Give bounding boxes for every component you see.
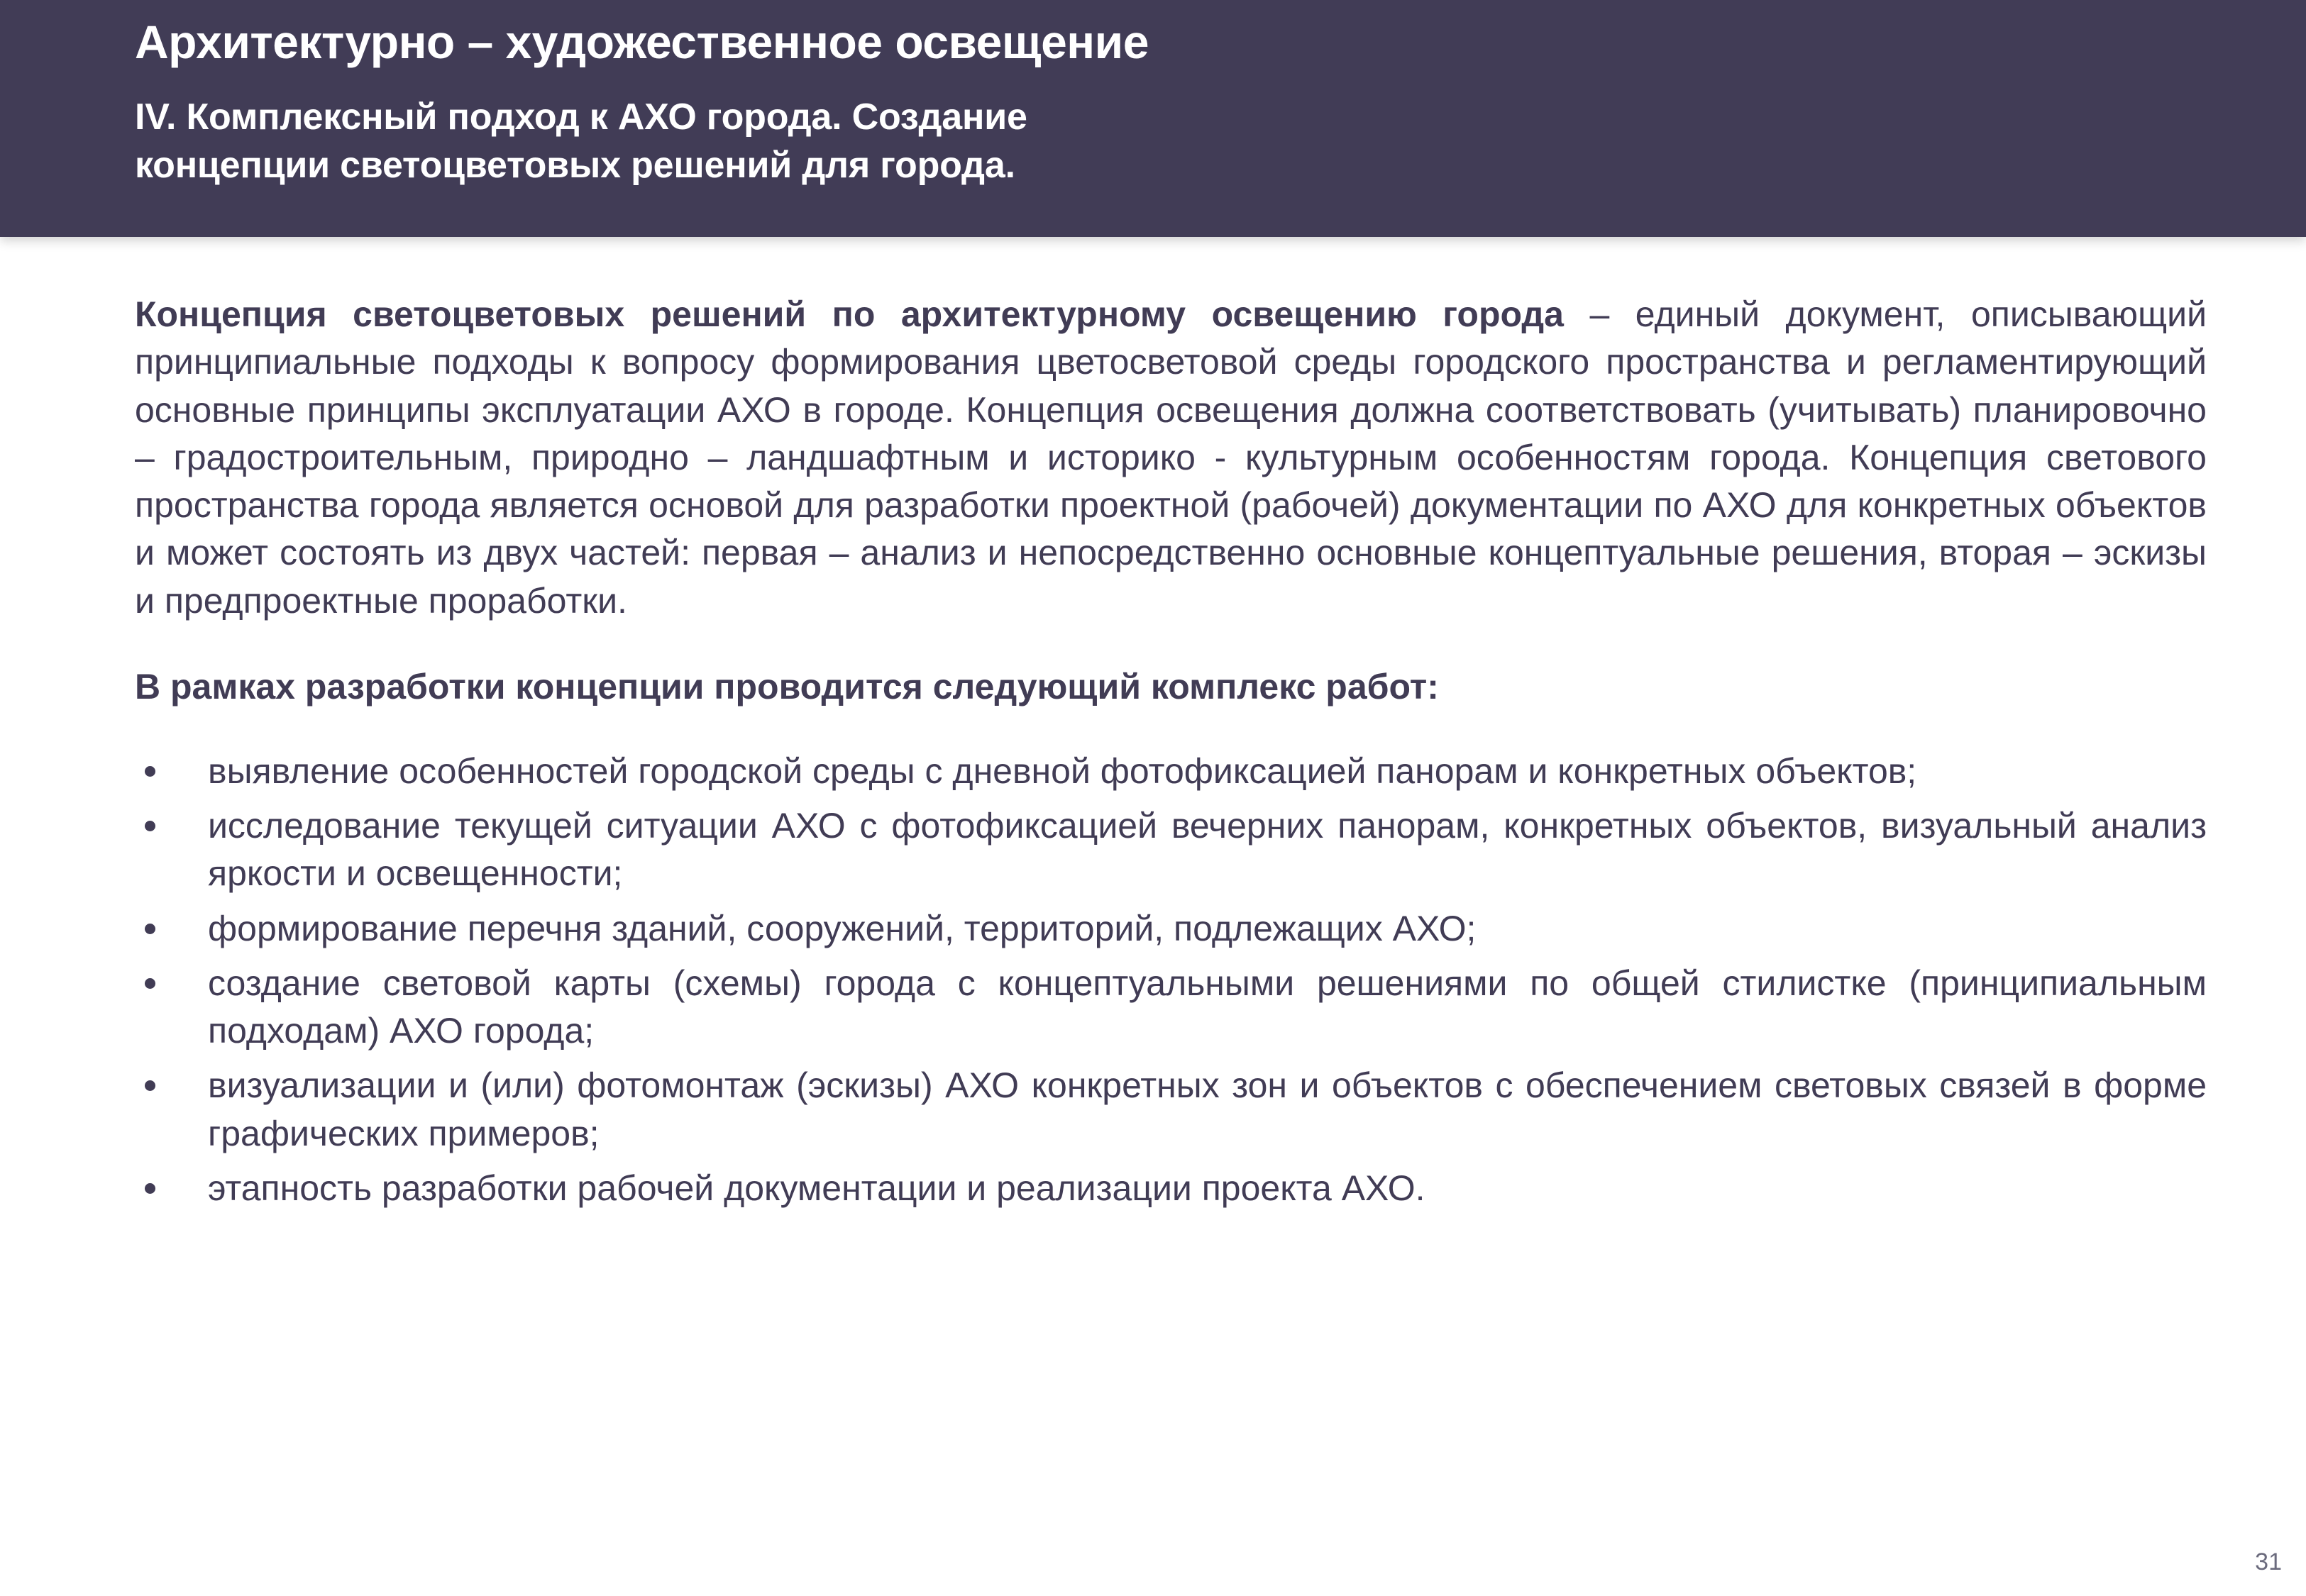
list-item: выявление особенностей городской среды с… — [135, 748, 2207, 795]
list-item: визуализации и (или) фотомонтаж (эскизы)… — [135, 1062, 2207, 1158]
page-title: Архитектурно – художественное освещение — [135, 16, 1149, 70]
works-bullet-list: выявление особенностей городской среды с… — [135, 748, 2207, 1212]
page-number: 31 — [2255, 1548, 2282, 1576]
list-item: исследование текущей ситуации АХО с фото… — [135, 802, 2207, 898]
page-subtitle-line-1: IV. Комплексный подход к АХО города. Соз… — [135, 94, 1483, 142]
intro-paragraph: Концепция светоцветовых решений по архит… — [135, 291, 2207, 625]
slide-content: Концепция светоцветовых решений по архит… — [135, 291, 2207, 1219]
intro-paragraph-rest: – единый документ, описывающий принципиа… — [135, 294, 2207, 621]
list-item: создание световой карты (схемы) города с… — [135, 960, 2207, 1055]
section-heading: В рамках разработки концепции проводится… — [135, 663, 2207, 711]
page-subtitle: IV. Комплексный подход к АХО города. Соз… — [135, 94, 1483, 189]
list-item: этапность разработки рабочей документаци… — [135, 1165, 2207, 1212]
header-banner: Архитектурно – художественное освещение … — [0, 0, 2306, 237]
intro-paragraph-lead: Концепция светоцветовых решений по архит… — [135, 294, 1564, 334]
page-subtitle-line-2: концепции светоцветовых решений для горо… — [135, 142, 1483, 190]
list-item: формирование перечня зданий, сооружений,… — [135, 905, 2207, 953]
